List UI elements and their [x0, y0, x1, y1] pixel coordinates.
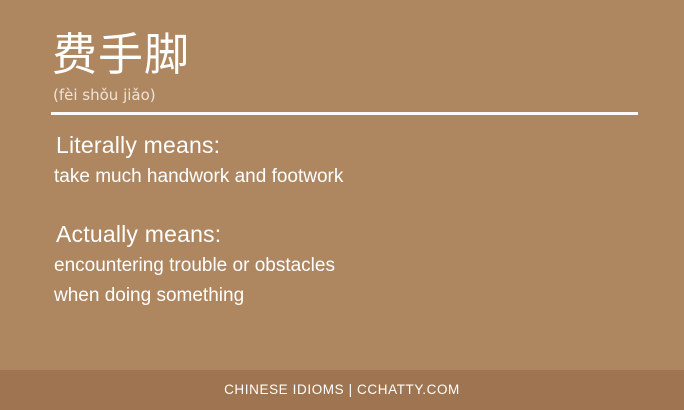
- actual-meaning-heading: Actually means:: [56, 219, 335, 249]
- literal-meaning-line: take much handwork and footwork: [54, 162, 343, 192]
- actual-meaning-block: Actually means: encountering trouble or …: [54, 219, 335, 311]
- actual-meaning-line: encountering trouble or obstacles: [54, 251, 335, 281]
- idiom-pinyin: (fèi shǒu jiǎo): [53, 86, 156, 104]
- idiom-hanzi-title: 费手脚: [52, 28, 190, 82]
- header-divider: [51, 112, 638, 115]
- footer-branding-text: CHINESE IDIOMS | CCHATTY.COM: [224, 382, 460, 398]
- literal-meaning-heading: Literally means:: [56, 130, 343, 160]
- card-content: 费手脚 (fèi shǒu jiǎo) Literally means: tak…: [0, 0, 684, 370]
- literal-meaning-block: Literally means: take much handwork and …: [54, 130, 343, 192]
- actual-meaning-line: when doing something: [54, 281, 335, 311]
- idiom-card: 费手脚 (fèi shǒu jiǎo) Literally means: tak…: [0, 0, 684, 410]
- footer-bar: CHINESE IDIOMS | CCHATTY.COM: [0, 370, 684, 410]
